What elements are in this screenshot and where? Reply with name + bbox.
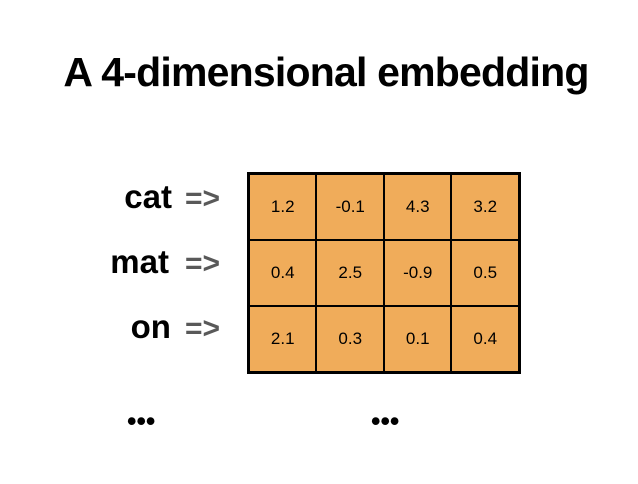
matrix-cell: 0.4	[249, 240, 317, 306]
slide-canvas: A 4-dimensional embedding cat => mat => …	[0, 0, 638, 484]
word-row-mat: mat =>	[40, 245, 220, 310]
table-row: 0.4 2.5 -0.9 0.5	[249, 240, 520, 306]
word-row-cat: cat =>	[40, 180, 220, 245]
matrix-cell: 2.5	[316, 240, 384, 306]
word-label-cat: cat	[124, 180, 172, 213]
matrix-cell: -0.9	[384, 240, 452, 306]
word-label-list: cat => mat => on =>	[40, 180, 220, 375]
word-row-on: on =>	[40, 310, 220, 375]
page-title: A 4-dimensional embedding	[46, 49, 606, 95]
matrix-cell: 1.2	[249, 174, 317, 241]
matrix-cell: 0.5	[451, 240, 519, 306]
matrix-cell: -0.1	[316, 174, 384, 241]
matrix-cell: 4.3	[384, 174, 452, 241]
embedding-matrix: 1.2 -0.1 4.3 3.2 0.4 2.5 -0.9 0.5 2.1 0.…	[247, 172, 521, 374]
matrix-cell: 0.4	[451, 306, 519, 373]
matrix-cell: 2.1	[249, 306, 317, 373]
matrix-cell: 3.2	[451, 174, 519, 241]
maps-to-arrow-icon: =>	[185, 314, 220, 344]
table-row: 2.1 0.3 0.1 0.4	[249, 306, 520, 373]
word-label-on: on	[131, 310, 171, 343]
maps-to-arrow-icon: =>	[185, 184, 220, 214]
word-label-mat: mat	[110, 245, 169, 278]
ellipsis-matrix: •••	[371, 408, 399, 435]
ellipsis-words: •••	[127, 408, 155, 435]
maps-to-arrow-icon: =>	[185, 249, 220, 279]
table-row: 1.2 -0.1 4.3 3.2	[249, 174, 520, 241]
matrix-cell: 0.3	[316, 306, 384, 373]
matrix-cell: 0.1	[384, 306, 452, 373]
